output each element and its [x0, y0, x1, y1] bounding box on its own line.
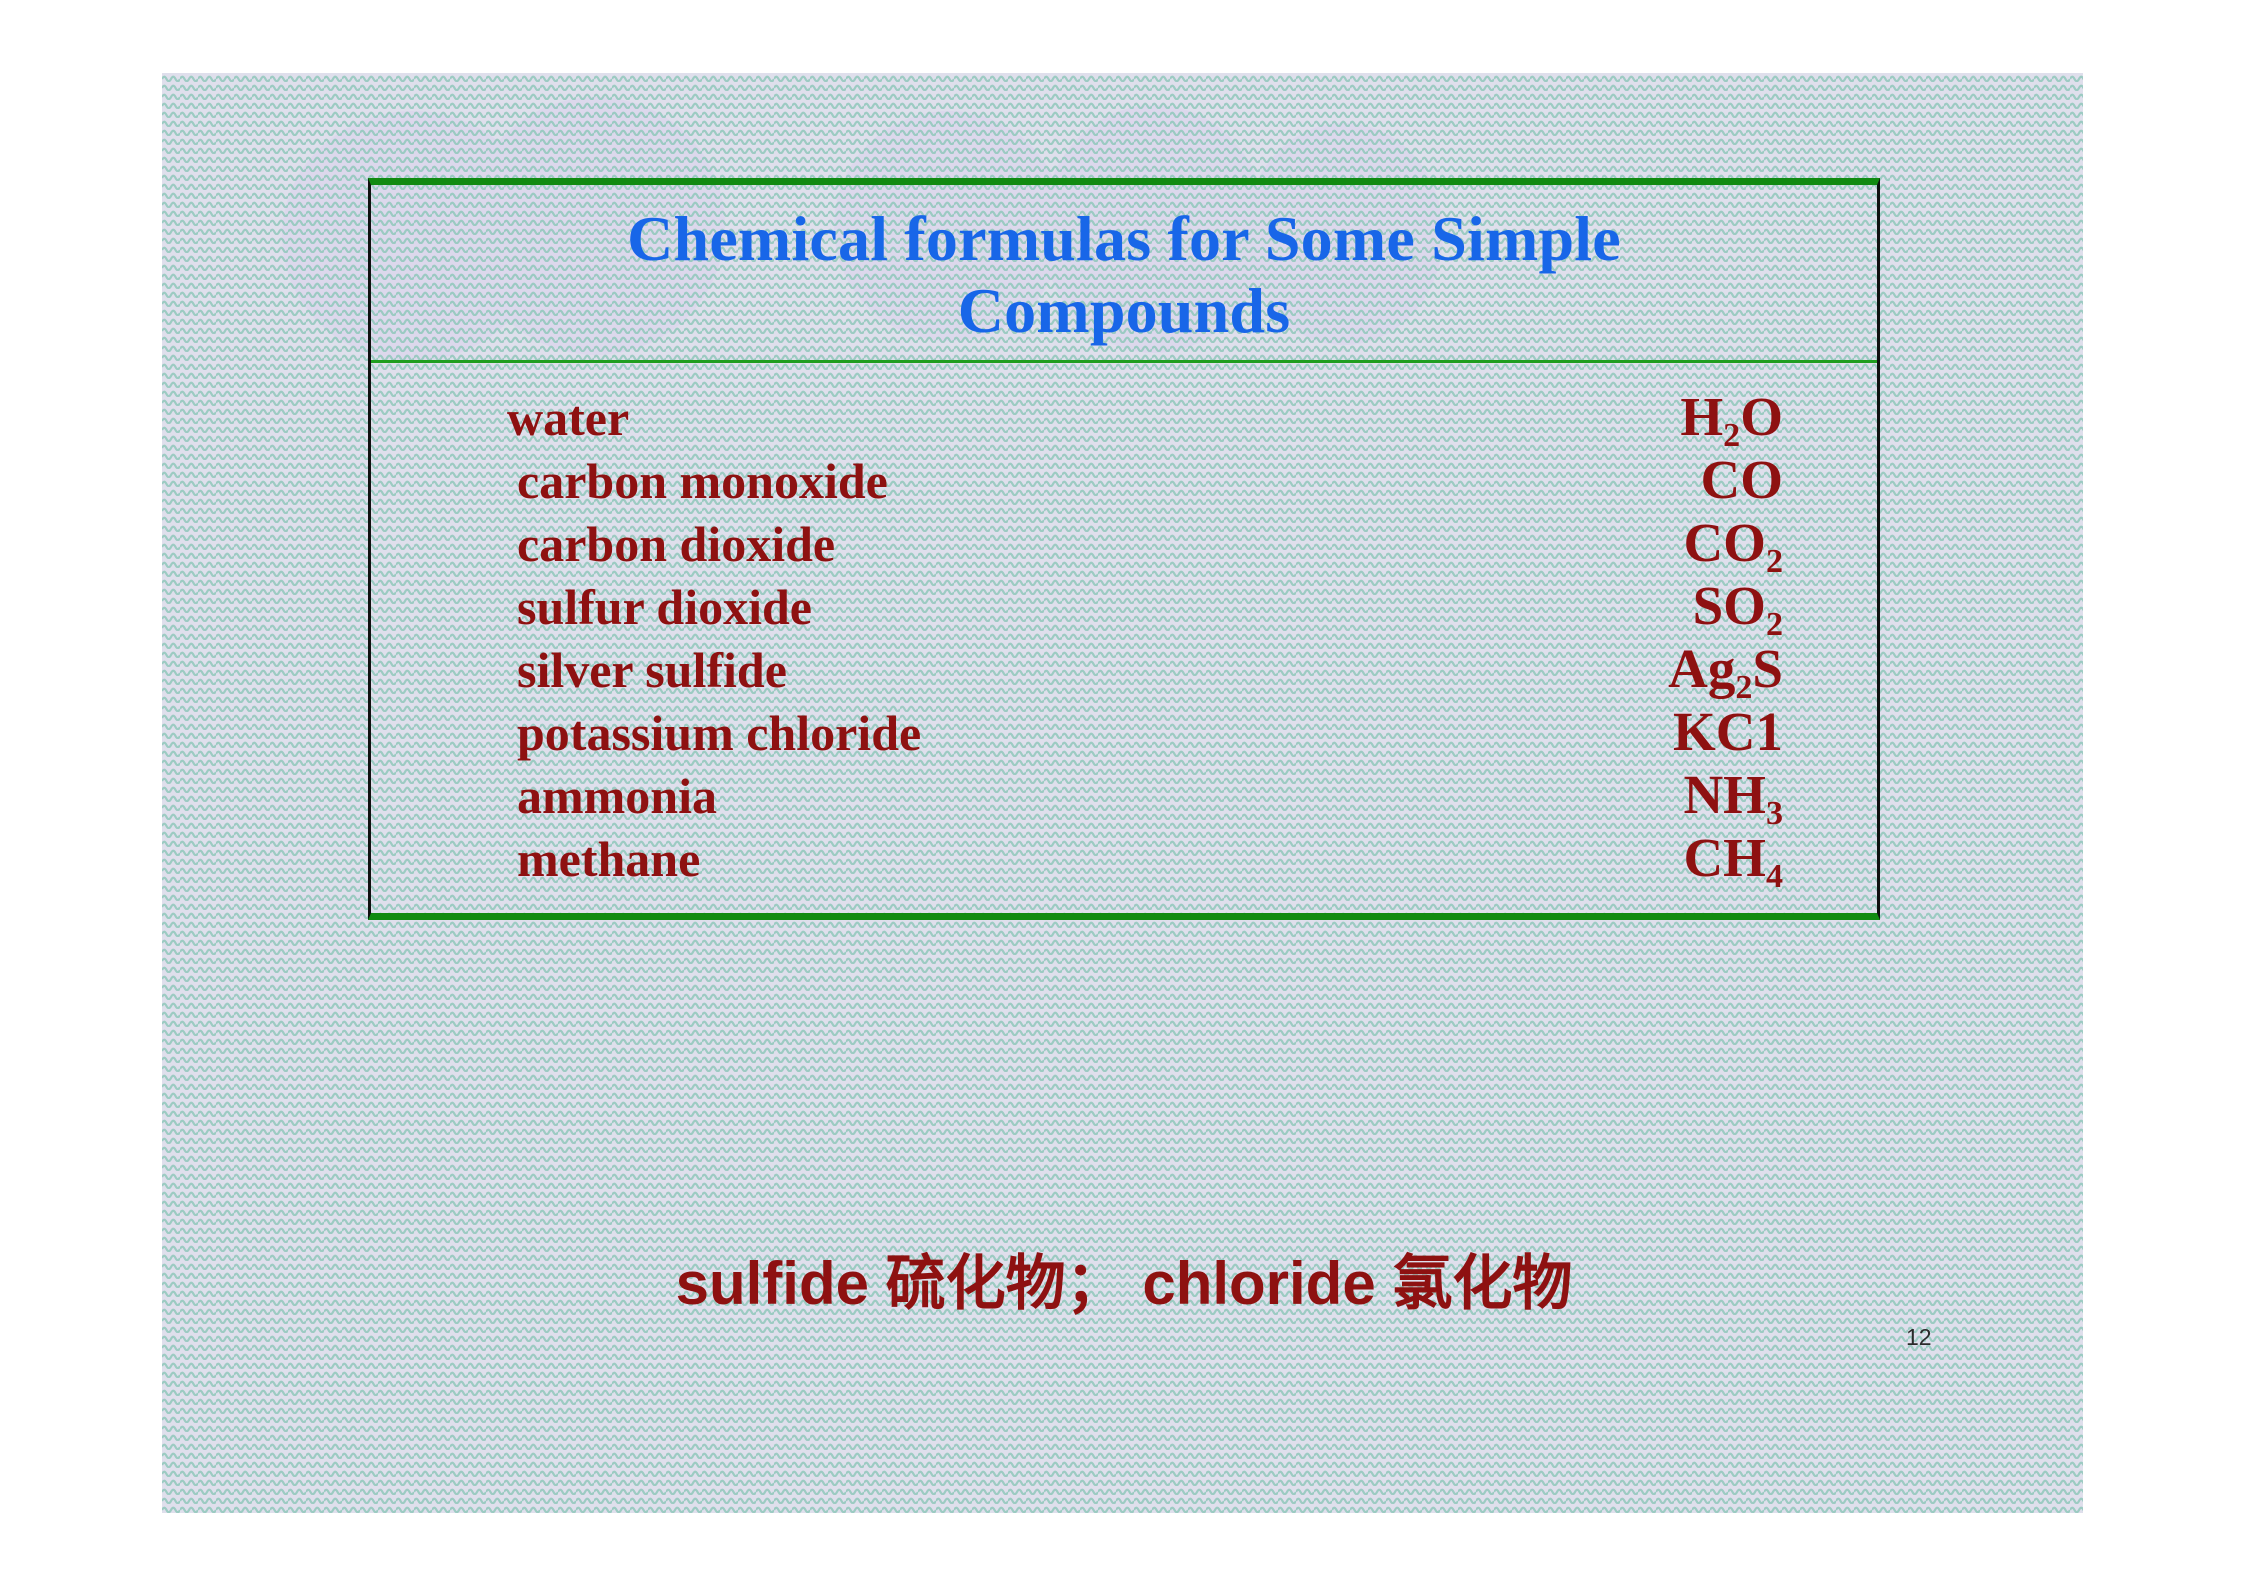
compound-name: methane [371, 830, 1131, 888]
compound-name: sulfur dioxide [371, 578, 1131, 636]
formula-base: CO [1683, 512, 1766, 573]
compound-name: silver sulfide [371, 641, 1131, 699]
compound-formula: CH4 [1131, 826, 1877, 889]
formula-tail: S [1752, 638, 1783, 699]
compound-formula: SO2 [1131, 574, 1877, 637]
formula-subscript: 2 [1766, 606, 1783, 643]
compound-formula: KC1 [1131, 700, 1877, 763]
formula-base: CH [1683, 827, 1766, 888]
slide-canvas: Chemical formulas for Some Simple Compou… [162, 73, 2083, 1513]
formula-base: KC1 [1673, 701, 1783, 762]
table-row: carbon dioxideCO2 [371, 511, 1877, 574]
page-number: 12 [1906, 1324, 1932, 1351]
compound-formula: H2O [1131, 385, 1877, 448]
compound-formula: CO [1131, 448, 1877, 511]
compound-name: carbon dioxide [371, 515, 1131, 573]
table-body-cell: waterH2Ocarbon monoxideCOcarbon dioxideC… [371, 363, 1877, 913]
formula-base: NH [1683, 764, 1766, 825]
formula-subscript: 3 [1766, 795, 1783, 832]
formula-subscript: 2 [1735, 669, 1752, 706]
compound-formula: Ag2S [1131, 637, 1877, 700]
formula-base: Ag [1668, 638, 1735, 699]
page-title-line-1: Chemical formulas for Some Simple [381, 203, 1867, 275]
formula-tail: O [1740, 386, 1783, 447]
formula-subscript: 2 [1723, 417, 1740, 454]
compound-name: carbon monoxide [371, 452, 1131, 510]
table-row: waterH2O [371, 385, 1877, 448]
formula-subscript: 2 [1766, 543, 1783, 580]
compounds-table: Chemical formulas for Some Simple Compou… [368, 178, 1880, 920]
table-row: potassium chlorideKC1 [371, 700, 1877, 763]
table-row: ammoniaNH3 [371, 763, 1877, 826]
table-row: sulfur dioxideSO2 [371, 574, 1877, 637]
compound-name: ammonia [371, 767, 1131, 825]
formula-base: CO [1701, 449, 1784, 510]
formula-subscript: 4 [1766, 858, 1783, 895]
compound-name: water [371, 389, 1131, 447]
formula-base: SO [1693, 575, 1766, 636]
table-row: methaneCH4 [371, 826, 1877, 889]
footer-glossary-note: sulfide 硫化物； chloride 氯化物 [368, 1235, 1880, 1322]
table-row: carbon monoxideCO [371, 448, 1877, 511]
compound-formula: CO2 [1131, 511, 1877, 574]
page-title-line-2: Compounds [381, 275, 1867, 347]
compound-name: potassium chloride [371, 704, 1131, 762]
table-row: silver sulfideAg2S [371, 637, 1877, 700]
table-title-cell: Chemical formulas for Some Simple Compou… [371, 185, 1877, 363]
compound-formula: NH3 [1131, 763, 1877, 826]
formula-base: H [1680, 386, 1723, 447]
